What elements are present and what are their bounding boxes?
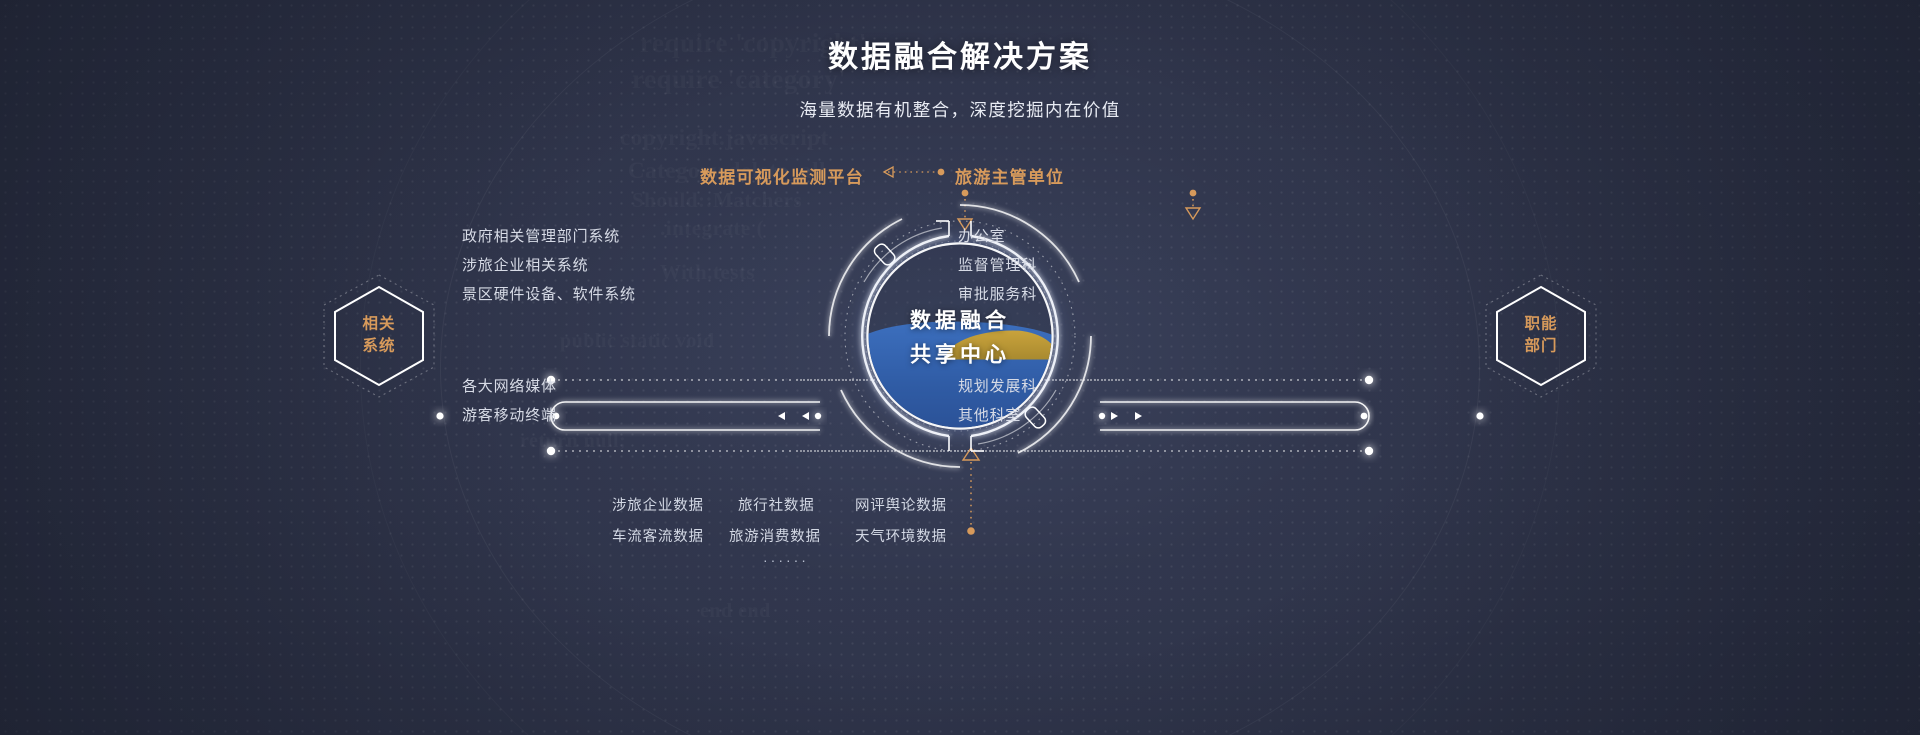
right-upper-item-0: 办公室 xyxy=(958,225,1005,246)
hexagon-left-line2: 系统 xyxy=(362,338,395,355)
right-upper-item-1: 监督管理科 xyxy=(958,254,1037,275)
page-subtitle: 海量数据有机整合，深度挖掘内在价值 xyxy=(0,97,1920,122)
bottom-item-r1-1: 旅行社数据 xyxy=(738,494,815,515)
hexagon-left-label: 相关 系统 xyxy=(320,314,438,359)
left-upper-item-0: 政府相关管理部门系统 xyxy=(462,225,620,246)
bottom-item-r1-0: 涉旅企业数据 xyxy=(612,494,704,515)
infographic-stage: require 'copyright' require 'category' c… xyxy=(0,0,1920,735)
left-upper-item-1: 涉旅企业相关系统 xyxy=(462,254,588,275)
node-tourism-authority[interactable]: 旅游主管单位 xyxy=(955,163,1064,188)
right-lower-item-0: 规划发展科 xyxy=(958,375,1037,396)
node-visualization-platform[interactable]: 数据可视化监测平台 xyxy=(700,163,864,188)
hexagon-right-line2: 部门 xyxy=(1524,338,1557,355)
hexagon-right[interactable]: 职能 部门 xyxy=(1482,273,1600,399)
bottom-item-r2-0: 车流客流数据 xyxy=(612,525,704,546)
sphere-label-line2: 共享中心 xyxy=(869,338,1052,368)
right-lower-item-1: 其他科室 xyxy=(958,404,1021,425)
header: 数据融合解决方案 海量数据有机整合，深度挖掘内在价值 xyxy=(0,32,1920,122)
sphere-label-line1: 数据融合 xyxy=(869,304,1052,334)
bottom-item-r2-1: 旅游消费数据 xyxy=(729,525,821,546)
hexagon-left[interactable]: 相关 系统 xyxy=(320,273,438,399)
left-lower-item-1: 游客移动终端 xyxy=(462,404,557,425)
bottom-item-r2-2: 天气环境数据 xyxy=(855,525,947,546)
left-lower-item-0: 各大网络媒体 xyxy=(462,375,557,396)
hexagon-left-line1: 相关 xyxy=(362,316,395,333)
bottom-item-r1-2: 网评舆论数据 xyxy=(855,494,947,515)
page-title: 数据融合解决方案 xyxy=(0,32,1920,76)
bottom-items-more: ······ xyxy=(763,552,809,568)
left-upper-item-2: 景区硬件设备、软件系统 xyxy=(462,283,636,304)
hexagon-right-line1: 职能 xyxy=(1524,316,1557,333)
right-upper-item-2: 审批服务科 xyxy=(958,283,1037,304)
sphere-label: 数据融合 共享中心 xyxy=(869,304,1052,368)
hexagon-right-label: 职能 部门 xyxy=(1482,314,1600,359)
